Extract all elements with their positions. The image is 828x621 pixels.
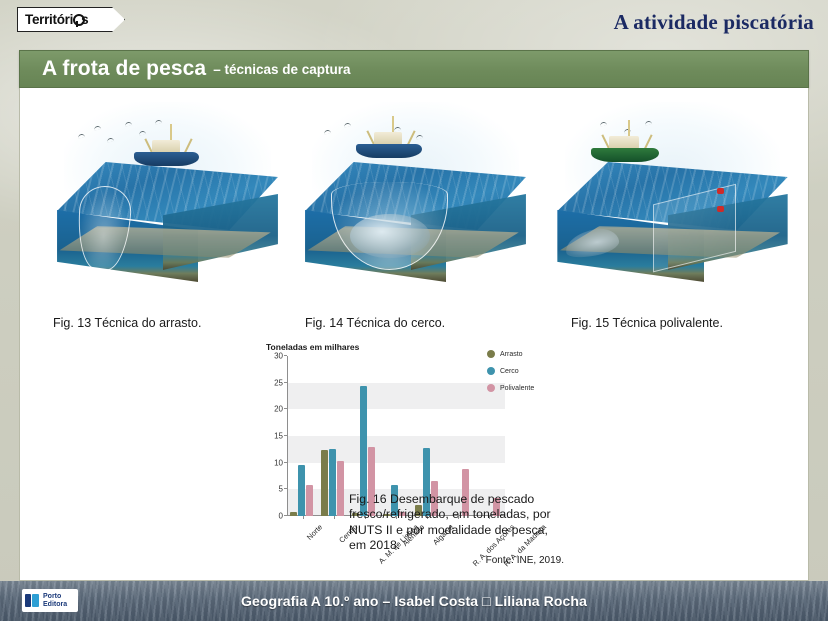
chart-legend-item: Cerco — [487, 367, 549, 375]
buoy-marker-icon — [717, 188, 724, 194]
banner-main-title: A frota de pesca — [42, 57, 206, 81]
location-pin-icon — [73, 14, 81, 26]
seagull-icon — [78, 133, 85, 138]
trawler-boat-icon — [128, 126, 208, 170]
chart-y-tick-label: 0 — [261, 512, 283, 521]
seagull-icon — [94, 125, 101, 130]
chart-legend-item: Arrasto — [487, 350, 549, 358]
chart-bar — [306, 485, 313, 516]
fish-school-icon — [350, 214, 430, 258]
footer-credit: Geografia A 10.º ano – Isabel Costa □ Li… — [241, 593, 587, 609]
figure-14-caption: Fig. 14 Técnica do cerco. — [305, 316, 445, 330]
boat-hull — [591, 148, 659, 163]
figure-15 — [550, 102, 795, 302]
chart-y-tick-label: 25 — [261, 378, 283, 387]
publisher-line-2: Editora — [43, 601, 67, 608]
figure-13 — [50, 102, 285, 302]
figure-16-source: Fonte: INE, 2019. — [349, 555, 564, 566]
chart-x-tick-mark — [334, 516, 335, 519]
chart-legend-swatch — [487, 367, 495, 375]
chart-y-tick-label: 30 — [261, 352, 283, 361]
chart-legend: ArrastoCercoPolivalente — [487, 350, 549, 401]
chart-y-tick-label: 15 — [261, 432, 283, 441]
page-title: A atividade piscatória — [614, 10, 814, 35]
porto-editora-logo: Porto Editora — [22, 589, 78, 612]
chart-y-tick-label: 10 — [261, 458, 283, 467]
chart-y-tick-label: 5 — [261, 485, 283, 494]
porto-editora-mark-icon — [25, 593, 40, 608]
chart-bar — [337, 461, 344, 516]
seagull-icon — [324, 130, 331, 135]
boat-hull — [356, 144, 422, 159]
chart-y-tick-label: 20 — [261, 405, 283, 414]
seiner-boat-icon — [350, 118, 430, 162]
figure-15-illustration — [550, 102, 795, 302]
chart-legend-label: Polivalente — [500, 385, 534, 392]
chart-legend-swatch — [487, 384, 495, 392]
banner-subtitle: – técnicas de captura — [213, 62, 350, 77]
chart-x-tick-label: Norte — [305, 522, 324, 541]
footer-bar: Porto Editora Geografia A 10.º ano – Isa… — [0, 581, 828, 621]
multipurpose-boat-icon — [584, 122, 667, 166]
logo-label: Territóris — [25, 12, 88, 27]
figure-15-caption: Fig. 15 Técnica polivalente. — [571, 316, 723, 330]
buoy-marker-icon — [717, 206, 724, 212]
figure-13-caption: Fig. 13 Técnica do arrasto. — [53, 316, 201, 330]
chart-legend-swatch — [487, 350, 495, 358]
top-bar: Territóris A atividade piscatória — [0, 0, 828, 44]
figure-14 — [298, 102, 533, 302]
figure-16-text: Fig. 16 Desembarque de pescado fresco/re… — [349, 492, 564, 566]
content-card: Fig. 13 Técnica do arrasto. — [19, 88, 809, 581]
boat-hull — [134, 152, 200, 167]
chart-legend-label: Cerco — [500, 368, 519, 375]
figure-14-illustration — [298, 102, 533, 302]
section-banner: A frota de pesca – técnicas de captura — [19, 50, 809, 88]
chart-bar — [298, 465, 305, 516]
chart-bar — [329, 449, 336, 516]
slide-page: Territóris A atividade piscatória A frot… — [0, 0, 828, 621]
publisher-line-1: Porto — [43, 593, 61, 600]
chart-legend-label: Arrasto — [500, 351, 523, 358]
chart-axis-title: Toneladas em milhares — [266, 342, 359, 352]
territorios-logo: Territóris — [17, 7, 125, 32]
chart-bar-group: Norte — [287, 356, 318, 516]
figure-13-illustration — [50, 102, 285, 302]
chart-bar — [321, 450, 328, 516]
seagull-icon — [154, 119, 161, 124]
chart-x-tick-mark — [303, 516, 304, 519]
porto-editora-label: Porto Editora — [43, 593, 67, 609]
chart-bar-group: Centro — [318, 356, 349, 516]
seagull-icon — [107, 138, 114, 143]
chart-bar — [290, 512, 297, 516]
chart-legend-item: Polivalente — [487, 384, 549, 392]
figure-16-caption: Fig. 16 Desembarque de pescado fresco/re… — [349, 492, 564, 554]
logo-text-before: Territóri — [25, 12, 73, 27]
